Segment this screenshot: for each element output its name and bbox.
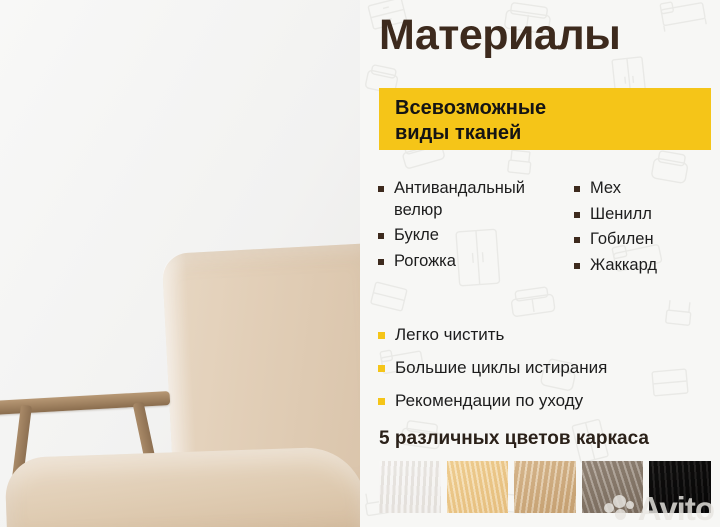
list-item: Антивандальный велюр — [378, 178, 574, 221]
benefits-list: Легко чистить Большие циклы истирания Ре… — [378, 324, 718, 412]
promo-banner: Материалы Всевозможныевиды тканей Антива… — [0, 0, 720, 527]
page-title: Материалы — [379, 12, 620, 59]
list-item: Шенилл — [574, 204, 718, 226]
fabric-label: Мех — [590, 179, 621, 197]
sofa-outline-icon — [510, 286, 555, 317]
benefit-label: Большие циклы истирания — [395, 358, 607, 377]
list-item: Легко чистить — [378, 324, 718, 346]
fabric-label: Шенилл — [590, 205, 652, 223]
benefit-label: Рекомендации по уходу — [395, 391, 583, 410]
list-item: Мех — [574, 178, 718, 200]
bed-outline-icon — [660, 0, 706, 32]
subtitle-text: Всевозможныевиды тканей — [395, 96, 546, 146]
fabric-list-right: Мех Шенилл Гобилен Жаккард — [574, 178, 718, 276]
benefit-label: Легко чистить — [395, 325, 504, 344]
subtitle-line-1: Всевозможные — [395, 97, 546, 119]
dresser-outline-icon — [371, 282, 407, 311]
list-item: Букле — [378, 225, 574, 247]
fabric-label: Гобилен — [590, 230, 654, 248]
product-photo — [0, 0, 360, 527]
frame-colors-title: 5 различных цветов каркаса — [379, 428, 649, 450]
fabric-list-left: Антивандальный велюр Букле Рогожка — [378, 178, 574, 272]
subtitle-line-2: виды тканей — [395, 122, 521, 144]
fabric-column-left: Антивандальный велюр Букле Рогожка — [378, 178, 574, 280]
fabric-label: Букле — [394, 226, 439, 244]
oak-frame-swatch[interactable] — [514, 461, 576, 513]
list-item: Рекомендации по уходу — [378, 390, 718, 412]
white-wash-frame-swatch[interactable] — [379, 461, 441, 513]
info-panel: Материалы Всевозможныевиды тканей Антива… — [360, 0, 720, 527]
chair-outline-icon — [666, 300, 692, 325]
fabric-list-columns: Антивандальный велюр Букле Рогожка Мех Ш… — [378, 178, 718, 280]
benefits-section: Легко чистить Большие циклы истирания Ре… — [378, 324, 718, 423]
walnut-grey-frame-swatch[interactable] — [582, 461, 644, 513]
natural-beech-frame-swatch[interactable] — [447, 461, 509, 513]
fabric-label: Антивандальный велюр — [394, 179, 525, 219]
subtitle-banner: Всевозможныевиды тканей — [379, 88, 711, 150]
armchair-seat-cushion — [4, 446, 360, 527]
fabric-label: Рогожка — [394, 252, 456, 270]
fabric-label: Жаккард — [590, 256, 657, 274]
list-item: Рогожка — [378, 251, 574, 273]
list-item: Большие циклы истирания — [378, 357, 718, 379]
fabric-column-right: Мех Шенилл Гобилен Жаккард — [574, 178, 718, 280]
chair-outline-icon — [508, 150, 532, 174]
wenge-black-frame-swatch[interactable] — [649, 461, 711, 513]
list-item: Гобилен — [574, 229, 718, 251]
frame-color-swatches — [379, 461, 711, 513]
list-item: Жаккард — [574, 255, 718, 277]
